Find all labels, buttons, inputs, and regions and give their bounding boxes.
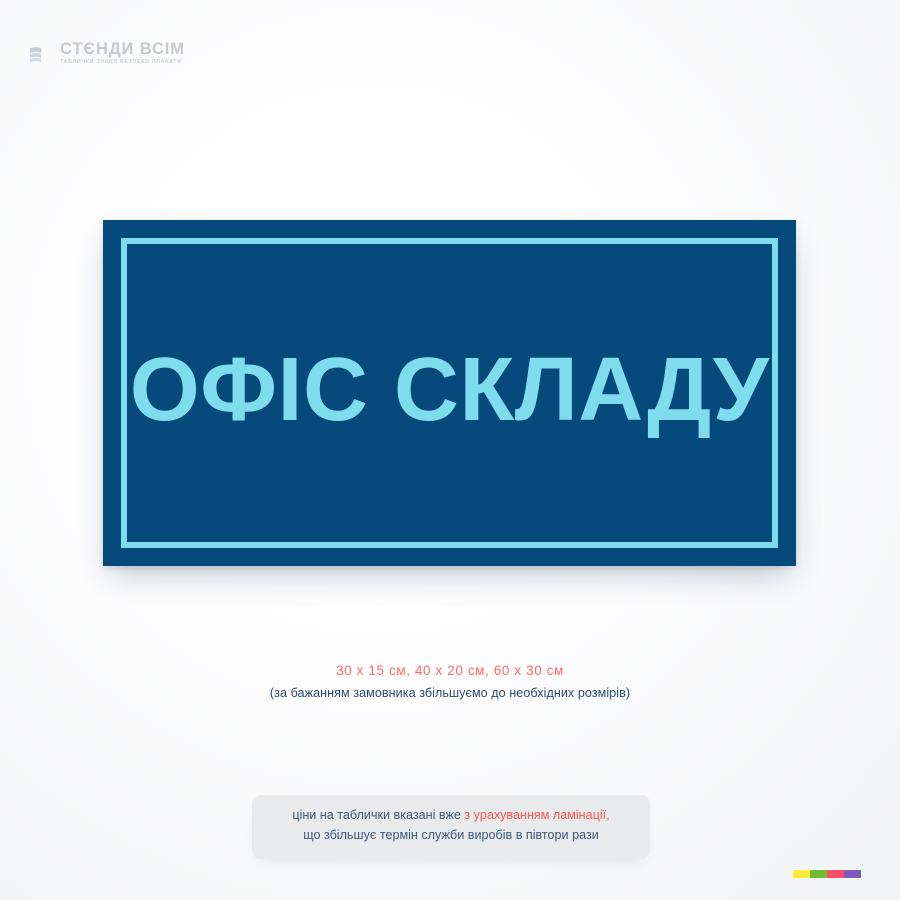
brand-logo[interactable]: СТЄНДИ ВСІМ ТАБЛИЧКИ ЗНАКИ БЕЗПЕКИ ПЛАКА… <box>28 40 185 67</box>
color-swatch-bar[interactable] <box>793 870 861 878</box>
laminate-note-line-1: ціни на таблички вказані вже з урахуванн… <box>270 806 632 826</box>
sizes-block: 30 x 15 см, 40 x 20 см, 60 x 30 см (за б… <box>0 661 900 702</box>
laminate-note-accent: з урахуванням ламінації, <box>464 808 609 822</box>
brand-name: СТЄНДИ ВСІМ <box>60 41 185 58</box>
sign-plate: ОФІС СКЛАДУ <box>103 220 796 566</box>
laminate-note-plain: ціни на таблички вказані вже <box>292 808 464 822</box>
swatch-purple[interactable] <box>844 870 861 878</box>
sign-plate-container: ОФІС СКЛАДУ <box>103 220 796 566</box>
sizes-list: 30 x 15 см, 40 x 20 см, 60 x 30 см <box>0 661 900 681</box>
sign-title-text: ОФІС СКЛАДУ <box>130 345 769 435</box>
brand-text: СТЄНДИ ВСІМ ТАБЛИЧКИ ЗНАКИ БЕЗПЕКИ ПЛАКА… <box>60 40 185 65</box>
swatch-yellow[interactable] <box>793 870 810 878</box>
stacked-pages-icon <box>28 41 54 67</box>
sizes-custom-note: (за бажанням замовника збільшуємо до нео… <box>0 685 900 703</box>
swatch-green[interactable] <box>810 870 827 878</box>
brand-tagline: ТАБЛИЧКИ ЗНАКИ БЕЗПЕКИ ПЛАКАТИ <box>60 60 185 65</box>
laminate-note-line-2: що збільшує термін служби виробів в півт… <box>270 826 632 846</box>
swatch-pink[interactable] <box>827 870 844 878</box>
laminate-note-box: ціни на таблички вказані вже з урахуванн… <box>252 795 650 859</box>
